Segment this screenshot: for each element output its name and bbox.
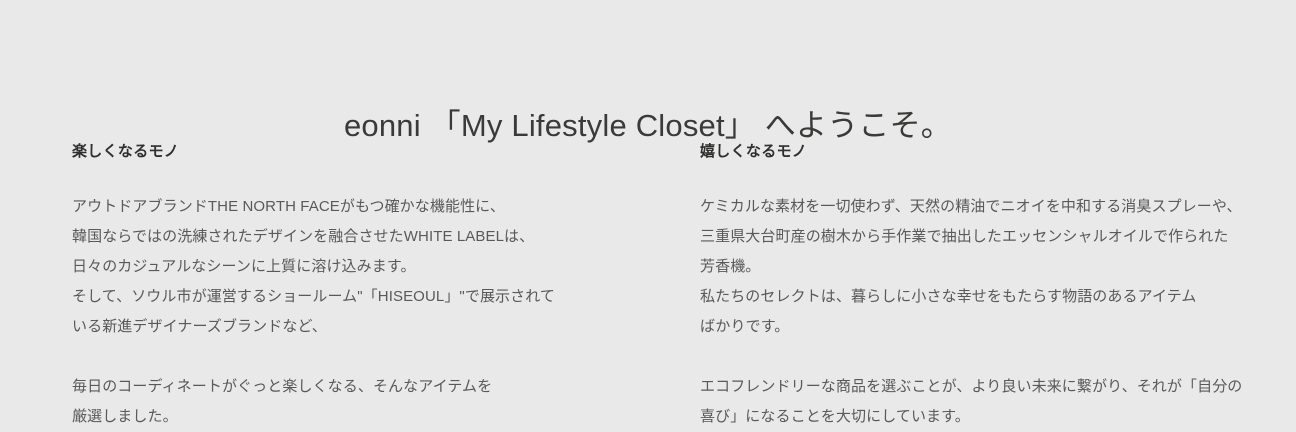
column-ureshiku: 嬉しくなるモノ ケミカルな素材を一切使わず、天然の精油でニオイを中和する消臭スプ…	[700, 142, 1296, 432]
body-line: ばかりです。	[700, 312, 1276, 342]
body-line: エコフレンドリーな商品を選ぶことが、より良い未来に繋がり、それが「自分の	[700, 372, 1276, 402]
content-columns: 楽しくなるモノ アウトドアブランドTHE NORTH FACEがもつ確かな機能性…	[0, 142, 1296, 432]
paragraph-block: ケミカルな素材を一切使わず、天然の精油でニオイを中和する消臭スプレーや、 三重県…	[700, 192, 1276, 342]
page-root: eonni 「My Lifestyle Closet」 へようこそ。 楽しくなる…	[0, 0, 1296, 415]
page-title: eonni 「My Lifestyle Closet」 へようこそ。	[0, 107, 1296, 144]
body-line: いる新進デザイナーズブランドなど、	[72, 312, 684, 342]
paragraph-block: エコフレンドリーな商品を選ぶことが、より良い未来に繋がり、それが「自分の 喜び」…	[700, 372, 1276, 432]
body-line: 喜び」になることを大切にしています。	[700, 402, 1276, 432]
column-heading-ureshiku: 嬉しくなるモノ	[700, 142, 1276, 162]
body-line: 日々のカジュアルなシーンに上質に溶け込みます。	[72, 252, 684, 282]
body-line: ケミカルな素材を一切使わず、天然の精油でニオイを中和する消臭スプレーや、	[700, 192, 1276, 222]
body-line: 厳選しました。	[72, 402, 684, 432]
body-line: 私たちのセレクトは、暮らしに小さな幸せをもたらす物語のあるアイテム	[700, 282, 1276, 312]
body-line: 芳香機。	[700, 252, 1276, 282]
body-line: 毎日のコーディネートがぐっと楽しくなる、そんなアイテムを	[72, 372, 684, 402]
body-line: そして、ソウル市が運営するショールーム"「HISEOUL」"で展示されて	[72, 282, 684, 312]
body-line: アウトドアブランドTHE NORTH FACEがもつ確かな機能性に、	[72, 192, 684, 222]
column-tanoshiku: 楽しくなるモノ アウトドアブランドTHE NORTH FACEがもつ確かな機能性…	[0, 142, 700, 432]
paragraph-block: 毎日のコーディネートがぐっと楽しくなる、そんなアイテムを 厳選しました。	[72, 372, 684, 432]
body-line: 韓国ならではの洗練されたデザインを融合させたWHITE LABELは、	[72, 222, 684, 252]
column-heading-tanoshiku: 楽しくなるモノ	[72, 142, 684, 162]
body-line: 三重県大台町産の樹木から手作業で抽出したエッセンシャルオイルで作られた	[700, 222, 1276, 252]
paragraph-block: アウトドアブランドTHE NORTH FACEがもつ確かな機能性に、 韓国ならで…	[72, 192, 684, 342]
